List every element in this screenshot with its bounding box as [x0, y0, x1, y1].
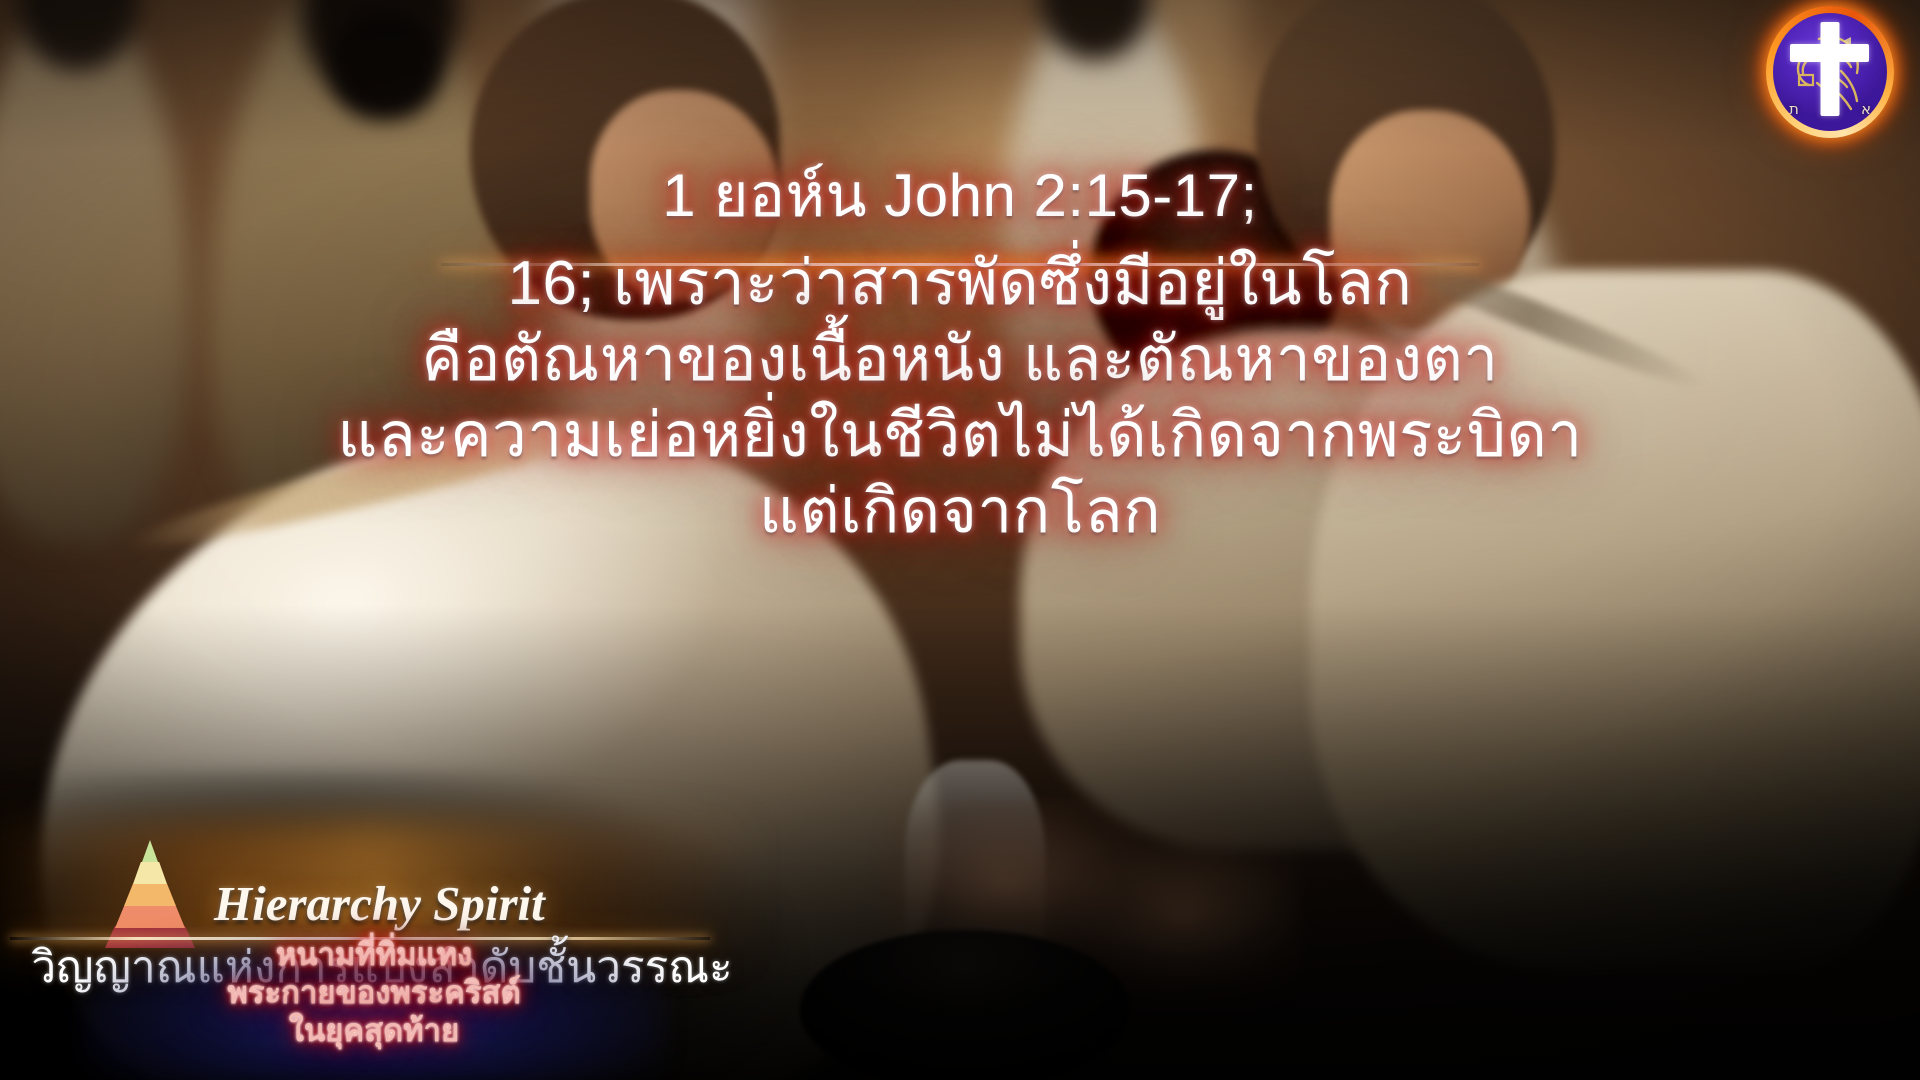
brand-subtitle-line-2: พระกายของพระคริสต์ — [24, 974, 724, 1012]
scripture-graphic-canvas: 1 ยอห์น John 2:15-17; 16; เพราะว่าสารพัด… — [0, 0, 1920, 1080]
brand-english-title: Hierarchy Spirit — [214, 879, 545, 928]
scripture-reference-line: 1 ยอห์น John 2:15-17; — [40, 160, 1880, 232]
scripture-line-2: คือตัณหาของเนื้อหนัง และตัณหาของตา — [40, 322, 1880, 398]
pyramid-tier-4 — [133, 862, 167, 884]
scripture-line-3: และความเย่อหยิ่งในชีวิตไม่ได้เกิดจากพระบ… — [40, 398, 1880, 474]
brand-subtitle-line-3: ในยุคสุดท้าย — [24, 1012, 724, 1050]
pyramid-tier-5 — [142, 840, 158, 862]
emblem-hebrew-letters: ת א — [1773, 102, 1887, 117]
hebrew-letter-tav: ת — [1789, 102, 1799, 117]
hebrew-letter-alef: א — [1861, 102, 1871, 117]
pyramid-tier-2 — [115, 906, 185, 928]
cross-horizontal-bar — [1790, 44, 1869, 62]
pyramid-tier-3 — [124, 884, 176, 906]
brand-subtitle-line-1: หนามที่ทิ่มแทง — [24, 936, 724, 974]
scripture-line-1: 16; เพราะว่าสารพัดซึ่งมีอยู่ในโลก — [40, 246, 1880, 322]
scripture-verse-block: 1 ยอห์น John 2:15-17; 16; เพราะว่าสารพัด… — [0, 160, 1920, 550]
hierarchy-pyramid-icon — [104, 840, 196, 948]
brand-lockup[interactable]: Hierarchy Spirit วิญญาณแห่งการแบ่งลำดับช… — [0, 790, 760, 1080]
brand-subtitle-block: หนามที่ทิ่มแทง พระกายของพระคริสต์ ในยุคส… — [24, 936, 724, 1080]
scripture-line-4: แต่เกิดจากโลก — [40, 474, 1880, 550]
lion-cross-emblem[interactable]: ת א — [1766, 6, 1894, 138]
emblem-disc: ת א — [1773, 13, 1887, 131]
